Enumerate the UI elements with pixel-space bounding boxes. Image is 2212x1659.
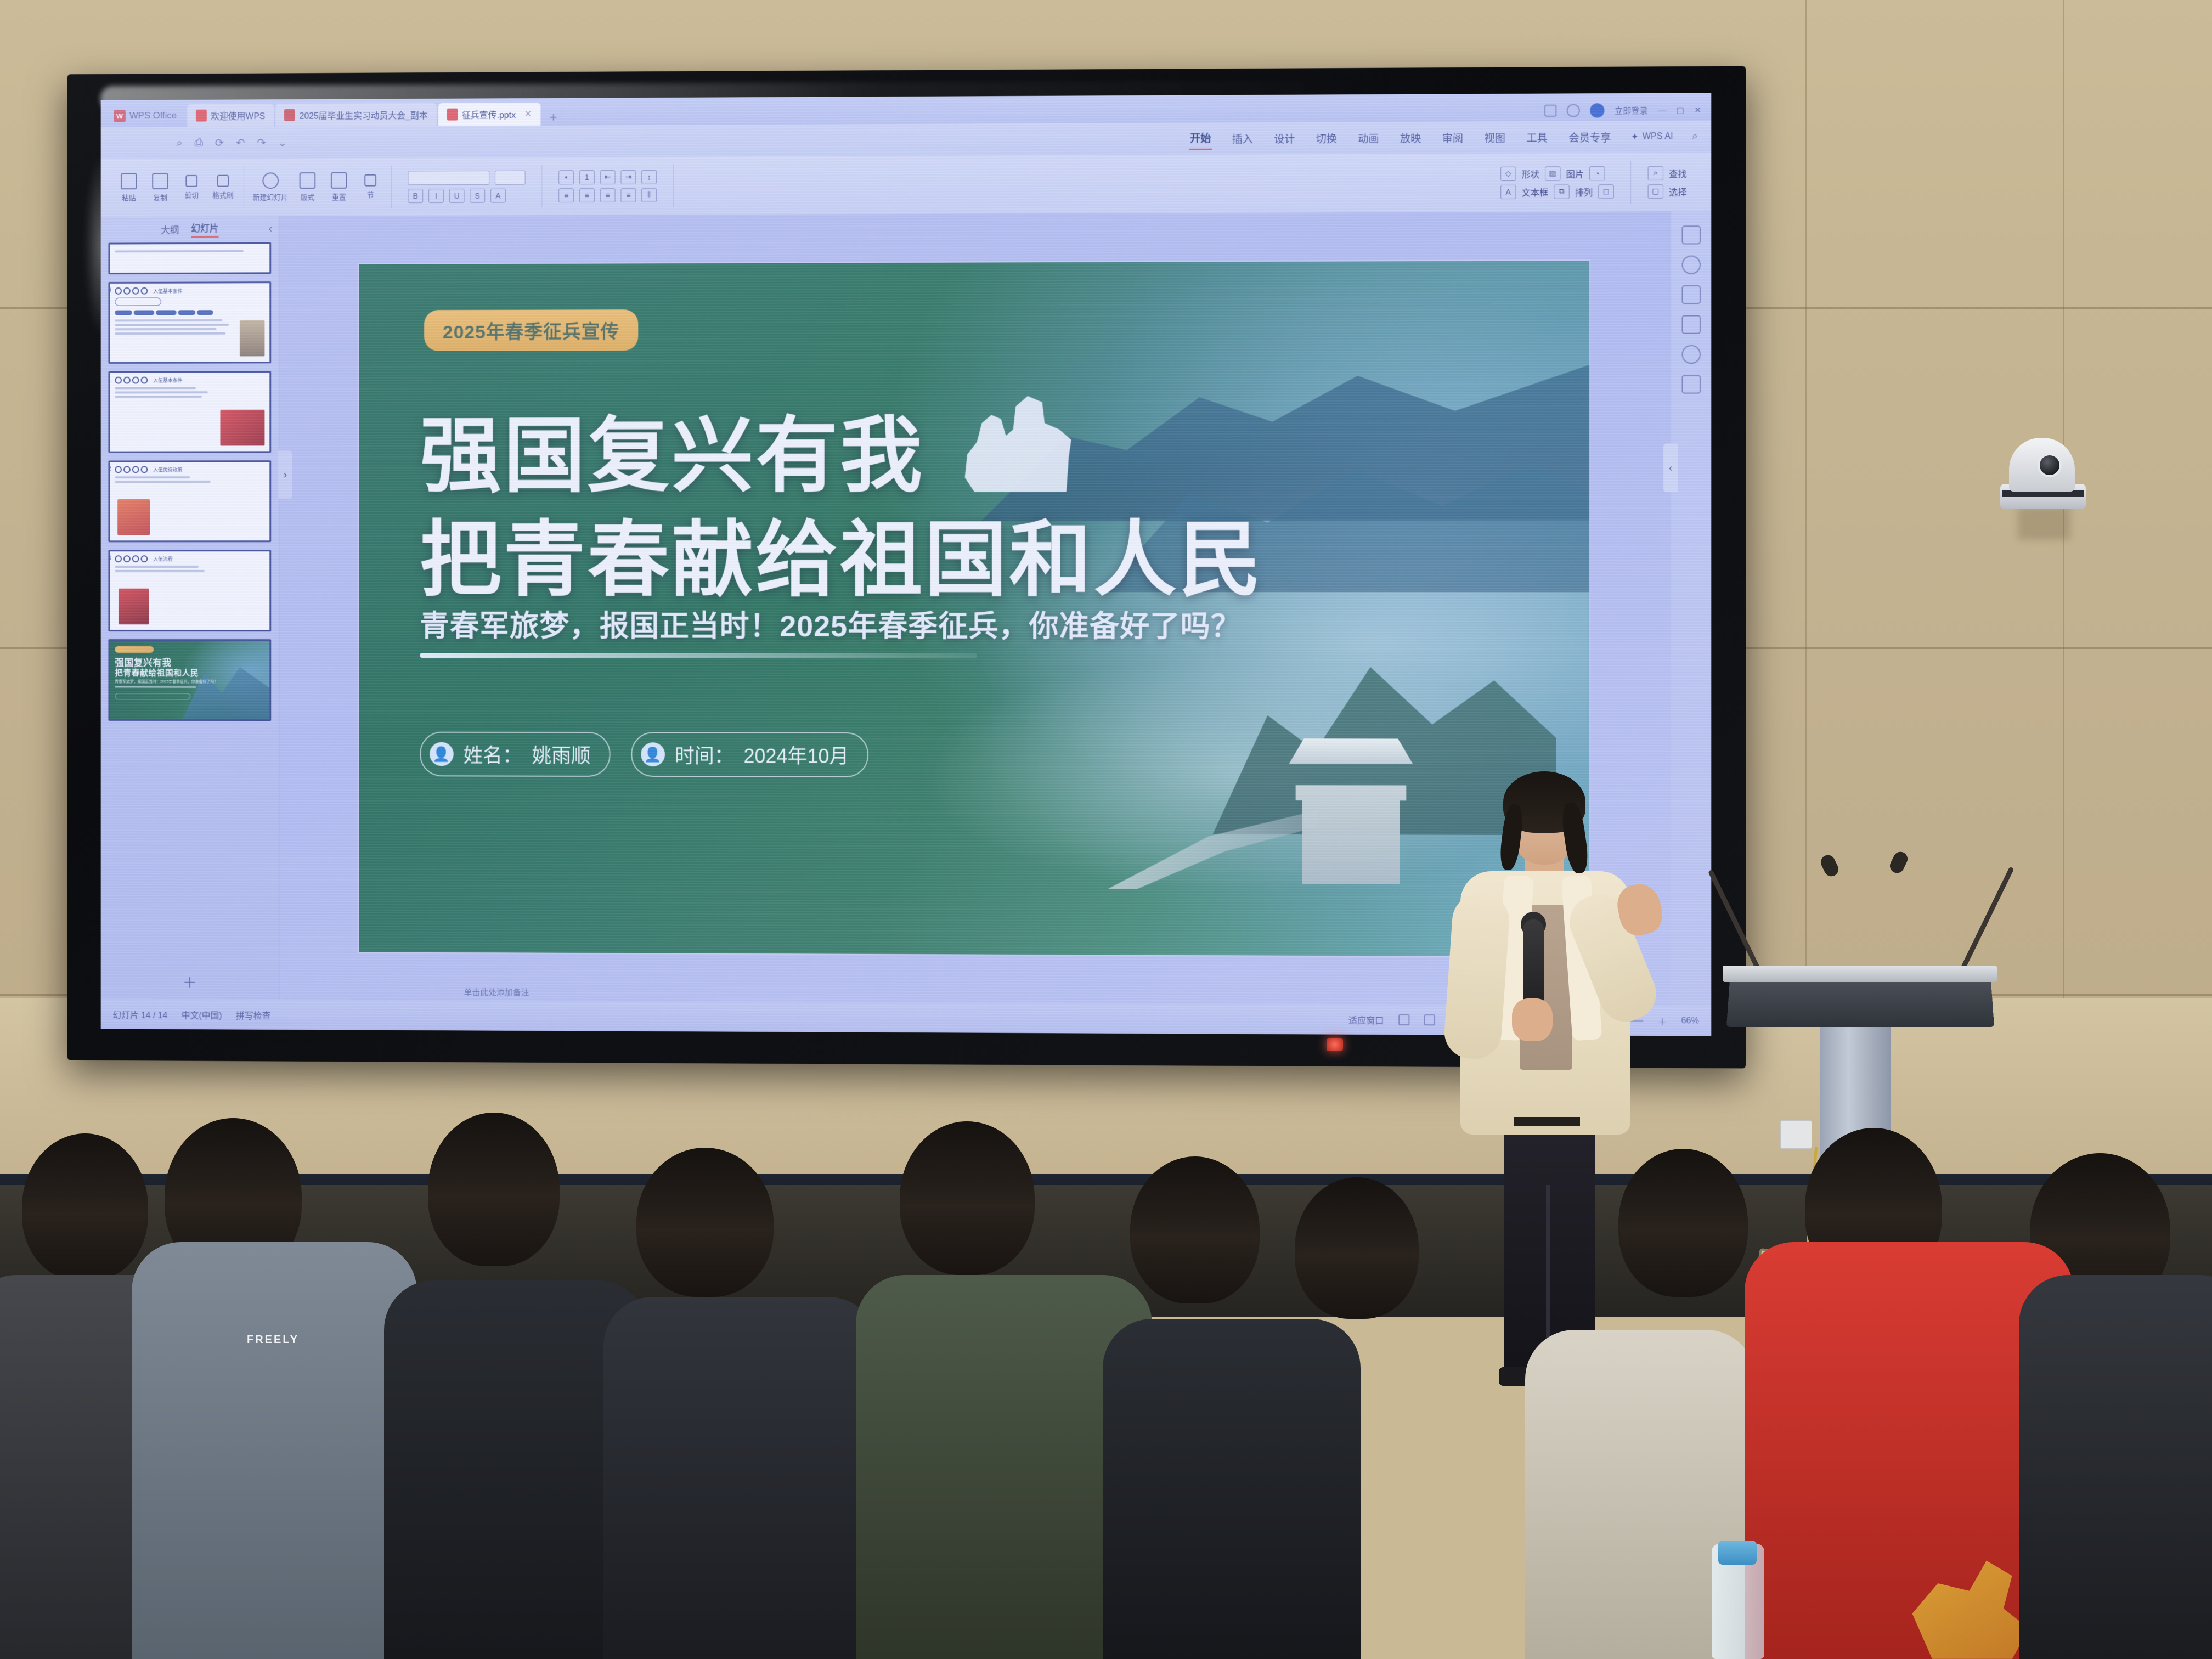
globe-icon[interactable] xyxy=(1567,104,1580,117)
notes-placeholder[interactable]: 单击此处添加备注 xyxy=(464,986,529,998)
undo-icon[interactable]: ↶ xyxy=(236,136,245,150)
thumb-subtitle: 青春军旅梦，报国正当时！2025年春季征兵，你准备好了吗？ xyxy=(115,679,218,684)
ppt-file-icon xyxy=(284,109,295,121)
shapes-icon: ◇ xyxy=(1500,166,1516,180)
slide-number: 10 xyxy=(108,286,111,294)
ribbon-group-drawing: ◇ 形状 ▨ 图片 ◔ A 文本框 ⧉ 排列 ◻ xyxy=(1484,161,1631,204)
scissors-icon xyxy=(185,175,198,187)
slide-number: 12 xyxy=(108,464,111,472)
thumbnail-title: 入伍流程 xyxy=(153,555,172,562)
ppt-file-icon xyxy=(447,109,458,121)
maximize-icon[interactable]: ▢ xyxy=(1677,105,1684,115)
mic-hand xyxy=(1512,998,1553,1041)
resources-icon[interactable] xyxy=(1681,285,1701,304)
thumbnail-item[interactable]: 11 入伍基本条件 xyxy=(108,371,271,453)
save-icon[interactable]: ⌕ xyxy=(177,137,183,149)
ribbon-tab-view[interactable]: 视图 xyxy=(1483,127,1506,148)
textbox-icon: A xyxy=(1500,184,1516,199)
ribbon-tab-animation[interactable]: 动画 xyxy=(1357,127,1380,149)
ribbon-tabs: 开始 插入 设计 切换 动画 放映 审阅 视图 工具 会员专享 ✦ WPS AI… xyxy=(1189,125,1711,150)
new-tab-button[interactable]: + xyxy=(542,110,565,126)
audience-head xyxy=(428,1113,560,1266)
document-tab[interactable]: 欢迎使用WPS xyxy=(187,104,274,127)
new-slide-button[interactable]: 新建幻灯片 xyxy=(253,172,288,202)
arrange-icon: ⧉ xyxy=(1554,184,1569,199)
print-icon[interactable]: ⎙ xyxy=(194,137,203,149)
sparkle-icon: ✦ xyxy=(1631,131,1639,142)
document-tab-label: 2025届毕业生实习动员大会_副本 xyxy=(300,108,428,122)
audience-head xyxy=(636,1148,774,1297)
thumbnail-item[interactable]: 9 xyxy=(108,242,271,274)
font-color-button[interactable]: A xyxy=(490,188,506,202)
time-label: 时间： xyxy=(675,740,734,769)
layout-label: 版式 xyxy=(301,191,315,202)
right-tool-rail: ‹ xyxy=(1671,211,1711,1006)
audience-torso xyxy=(2019,1275,2212,1659)
numbered-list-button[interactable]: 1 xyxy=(579,170,595,184)
name-value: 姚雨顺 xyxy=(532,740,591,769)
podium-desktop xyxy=(1723,966,1997,982)
select-icon: ▢ xyxy=(1648,184,1663,198)
audience-head xyxy=(1295,1177,1419,1319)
thumb-badge xyxy=(115,646,154,653)
clock-icon: 👤 xyxy=(641,742,665,766)
tab-outline[interactable]: 大纲 xyxy=(161,222,179,236)
bullet-list-button[interactable]: • xyxy=(558,170,574,184)
justify-button[interactable]: ≡ xyxy=(620,188,636,202)
redo-icon[interactable]: ↷ xyxy=(257,136,266,149)
find-label[interactable]: 查找 xyxy=(1669,166,1686,179)
info-pill-time: 👤 时间： 2024年10月 xyxy=(631,732,868,777)
thumbnail-title: 入伍基本条件 xyxy=(153,376,182,383)
document-tab-active[interactable]: 征兵宣传.pptx ✕ xyxy=(438,103,540,126)
paste-icon xyxy=(121,173,137,189)
align-right-button[interactable]: ≡ xyxy=(600,188,616,202)
ribbon-group-font: B I U S A xyxy=(392,165,543,208)
thumbnail-item[interactable]: 13 入伍流程 xyxy=(108,550,271,631)
design-ideas-icon[interactable] xyxy=(1681,225,1701,244)
picture-icon: ▨ xyxy=(1545,166,1560,180)
format-painter-label: 格式刷 xyxy=(212,189,233,200)
line-spacing-button[interactable]: ↕ xyxy=(641,170,657,184)
camera-lens-icon xyxy=(2038,453,2062,477)
thumbnail-panel-tabs: 大纲 幻灯片 xyxy=(101,216,279,242)
microphone-head-icon xyxy=(1819,853,1841,878)
layout-icon xyxy=(300,172,316,189)
cut-label: 剪切 xyxy=(184,190,199,200)
language-label[interactable]: 中文(中国) xyxy=(182,1008,222,1021)
new-slide-icon xyxy=(262,172,279,189)
close-icon[interactable]: ✕ xyxy=(524,109,532,120)
section-label: 节 xyxy=(367,189,374,200)
slide-number: 13 xyxy=(108,554,111,562)
wps-logo-label: WPS Office xyxy=(129,110,177,121)
info-pill-name: 👤 姓名： 姚雨顺 xyxy=(420,732,610,777)
thumbnail-item[interactable]: 10 入伍基本条件 xyxy=(108,281,271,364)
document-tab-label: 征兵宣传.pptx xyxy=(462,108,516,121)
ai-assistant-icon[interactable] xyxy=(1681,256,1701,274)
user-icon: 👤 xyxy=(430,742,454,766)
ribbon-group-clipboard: 粘贴 复制 剪切 格式刷 xyxy=(108,166,244,209)
search-icon: ⌕ xyxy=(1648,166,1663,180)
zoom-level: 66% xyxy=(1681,1016,1699,1026)
font-size-select[interactable] xyxy=(495,170,526,184)
document-tab-label: 欢迎使用WPS xyxy=(211,109,265,122)
shapes-panel-icon[interactable] xyxy=(1681,315,1701,334)
ribbon-tab-member[interactable]: 会员专享 xyxy=(1567,126,1612,148)
thumb-title-2: 把青春献给祖国和人民 xyxy=(115,667,199,679)
chevron-left-icon[interactable]: ‹ xyxy=(269,223,273,235)
tab-slides[interactable]: 幻灯片 xyxy=(191,221,218,238)
ribbon-group-editing: ⌕ 查找 ▢ 选择 xyxy=(1631,160,1703,204)
document-tab[interactable]: 2025届毕业生实习动员大会_副本 xyxy=(275,103,436,127)
columns-button[interactable]: ⫴ xyxy=(641,188,657,202)
wps-logo-tab[interactable]: W WPS Office xyxy=(105,104,185,127)
apps-icon[interactable] xyxy=(1544,105,1556,117)
paste-label: 粘贴 xyxy=(122,192,136,202)
fill-icon[interactable]: ◔ xyxy=(1589,166,1605,180)
slide-counter: 幻灯片 14 / 14 xyxy=(112,1008,167,1021)
audience-head xyxy=(1130,1156,1260,1304)
panel-toggle-left[interactable]: › xyxy=(278,450,292,498)
ribbon-group-paragraph: • 1 ⇤ ⇥ ↕ ≡ ≡ ≡ ≡ ⫴ xyxy=(542,165,674,208)
bold-button[interactable]: B xyxy=(408,189,423,203)
section-button[interactable]: 节 xyxy=(358,174,382,200)
ribbon-tab-tools[interactable]: 工具 xyxy=(1525,126,1549,148)
select-label[interactable]: 选择 xyxy=(1669,184,1686,198)
align-left-button[interactable]: ≡ xyxy=(558,188,574,202)
paste-button[interactable]: 粘贴 xyxy=(117,173,140,202)
shapes-label[interactable]: 形状 xyxy=(1522,167,1539,180)
slide-number: 11 xyxy=(108,375,110,383)
ptz-camera xyxy=(1997,438,2096,520)
minimize-icon[interactable]: — xyxy=(1658,105,1666,115)
format-painter-button[interactable]: 格式刷 xyxy=(211,175,235,200)
underline-button[interactable]: U xyxy=(449,188,465,202)
fit-label[interactable]: 适应窗口 xyxy=(1348,1013,1384,1026)
ribbon-group-slides: 新建幻灯片 版式 重置 节 xyxy=(244,166,392,209)
slide-sorter-icon[interactable] xyxy=(1424,1014,1435,1025)
media-panel-icon[interactable] xyxy=(1681,375,1701,393)
font-family-select[interactable] xyxy=(408,170,489,184)
outline-icon[interactable]: ◻ xyxy=(1598,184,1613,199)
audience-torso xyxy=(1103,1319,1361,1659)
login-label[interactable]: 立即登录 xyxy=(1615,104,1648,116)
arrange-label[interactable]: 排列 xyxy=(1575,185,1593,198)
slide-divider-rule xyxy=(420,653,977,658)
ribbon-tab-insert[interactable]: 插入 xyxy=(1231,128,1254,149)
cloud-sync-icon[interactable]: ⟳ xyxy=(215,136,224,150)
copy-button[interactable]: 复制 xyxy=(148,173,172,202)
watchtower-roof xyxy=(1289,738,1413,764)
search-icon[interactable]: ⌕ xyxy=(1692,131,1698,143)
thumb-rule xyxy=(115,686,196,687)
avatar[interactable] xyxy=(1590,103,1604,117)
thumbnail-list[interactable]: 9 10 入伍基本条件 xyxy=(101,242,279,972)
ribbon-tab-slideshow[interactable]: 放映 xyxy=(1399,127,1422,148)
section-icon xyxy=(364,174,376,187)
wps-ai-button[interactable]: ✦ WPS AI xyxy=(1631,131,1673,142)
slide-title-line1: 强国复兴有我 xyxy=(420,389,924,509)
thumbnail-title: 入伍基本条件 xyxy=(153,287,182,295)
copy-label: 复制 xyxy=(153,192,167,202)
time-value: 2024年10月 xyxy=(744,741,849,769)
audience-head xyxy=(900,1121,1035,1275)
audience-torso xyxy=(603,1297,878,1659)
wps-logo-icon: W xyxy=(114,110,126,122)
slide-title-line2: 把青春献给祖国和人民 xyxy=(420,493,1263,613)
thumbnail-item-current[interactable]: 14 强国复兴有我 把青春献给祖国和人民 青春军旅梦，报国正当时！2025年春季… xyxy=(108,639,271,721)
audience: FREELY xyxy=(0,1110,2212,1659)
add-slide-button[interactable]: ＋ xyxy=(101,972,279,992)
italic-button[interactable]: I xyxy=(428,189,444,203)
textbox-label[interactable]: 文本框 xyxy=(1522,185,1549,198)
current-slide[interactable]: 2025年春季征兵宣传 强国复兴有我 把青春献给祖国和人民 青春军旅梦，报国正当… xyxy=(359,261,1589,956)
ribbon-toolbar: 粘贴 复制 剪切 格式刷 xyxy=(101,153,1712,217)
copy-icon xyxy=(152,173,168,189)
align-center-button[interactable]: ≡ xyxy=(579,188,595,202)
podium-desk-face xyxy=(1726,980,1994,1027)
reset-label: 重置 xyxy=(332,191,346,202)
indent-decrease-button[interactable]: ⇤ xyxy=(600,170,616,184)
normal-view-icon[interactable] xyxy=(1398,1014,1409,1025)
picture-label[interactable]: 图片 xyxy=(1566,167,1584,180)
ribbon-tab-review[interactable]: 审阅 xyxy=(1441,127,1464,148)
audience-head xyxy=(22,1133,148,1280)
indicator-light xyxy=(1327,1038,1343,1051)
microphone-head-icon xyxy=(1888,849,1910,875)
spellcheck-label[interactable]: 拼写检查 xyxy=(236,1008,270,1022)
audience-torso-freely-jacket xyxy=(132,1242,417,1659)
chart-panel-icon[interactable] xyxy=(1681,345,1701,364)
ribbon-tab-transition[interactable]: 切换 xyxy=(1315,127,1338,149)
ribbon-tab-design[interactable]: 设计 xyxy=(1273,127,1296,149)
strikethrough-button[interactable]: S xyxy=(470,188,485,202)
thumb-pills xyxy=(115,693,190,699)
slide-info-pills: 👤 姓名： 姚雨顺 👤 时间： 2024年10月 xyxy=(420,732,868,777)
new-slide-label: 新建幻灯片 xyxy=(253,191,288,202)
jacket-brand-label: FREELY xyxy=(247,1334,299,1346)
wps-ai-label: WPS AI xyxy=(1643,132,1673,142)
audience-head xyxy=(1618,1149,1748,1297)
thumbnail-item[interactable]: 12 入伍优待政策 xyxy=(108,460,271,542)
bottle-cap xyxy=(1718,1541,1757,1565)
gooseneck-microphone xyxy=(1959,866,2014,973)
indent-increase-button[interactable]: ⇥ xyxy=(620,170,636,184)
layout-button[interactable]: 版式 xyxy=(296,172,319,202)
format-painter-icon xyxy=(217,175,229,187)
slide-subtitle: 青春军旅梦，报国正当时！2025年春季征兵，你准备好了吗？ xyxy=(420,602,1241,646)
reset-button[interactable]: 重置 xyxy=(327,172,351,202)
slide-thumbnail-panel: 大纲 幻灯片 ‹ 9 10 xyxy=(101,216,279,1000)
cut-button[interactable]: 剪切 xyxy=(179,175,203,200)
name-label: 姓名： xyxy=(464,740,522,769)
panel-toggle-right[interactable]: ‹ xyxy=(1663,443,1678,492)
doc-file-icon xyxy=(196,110,207,122)
window-controls: 立即登录 — ▢ ✕ xyxy=(1544,103,1711,121)
chevron-down-icon[interactable]: ⌄ xyxy=(278,136,287,149)
reset-icon xyxy=(331,172,347,189)
thumbnail-title: 入伍优待政策 xyxy=(153,466,182,473)
slide-badge: 2025年春季征兵宣传 xyxy=(424,309,638,351)
ribbon-tab-start[interactable]: 开始 xyxy=(1189,127,1212,150)
close-icon[interactable]: ✕ xyxy=(1694,105,1701,115)
